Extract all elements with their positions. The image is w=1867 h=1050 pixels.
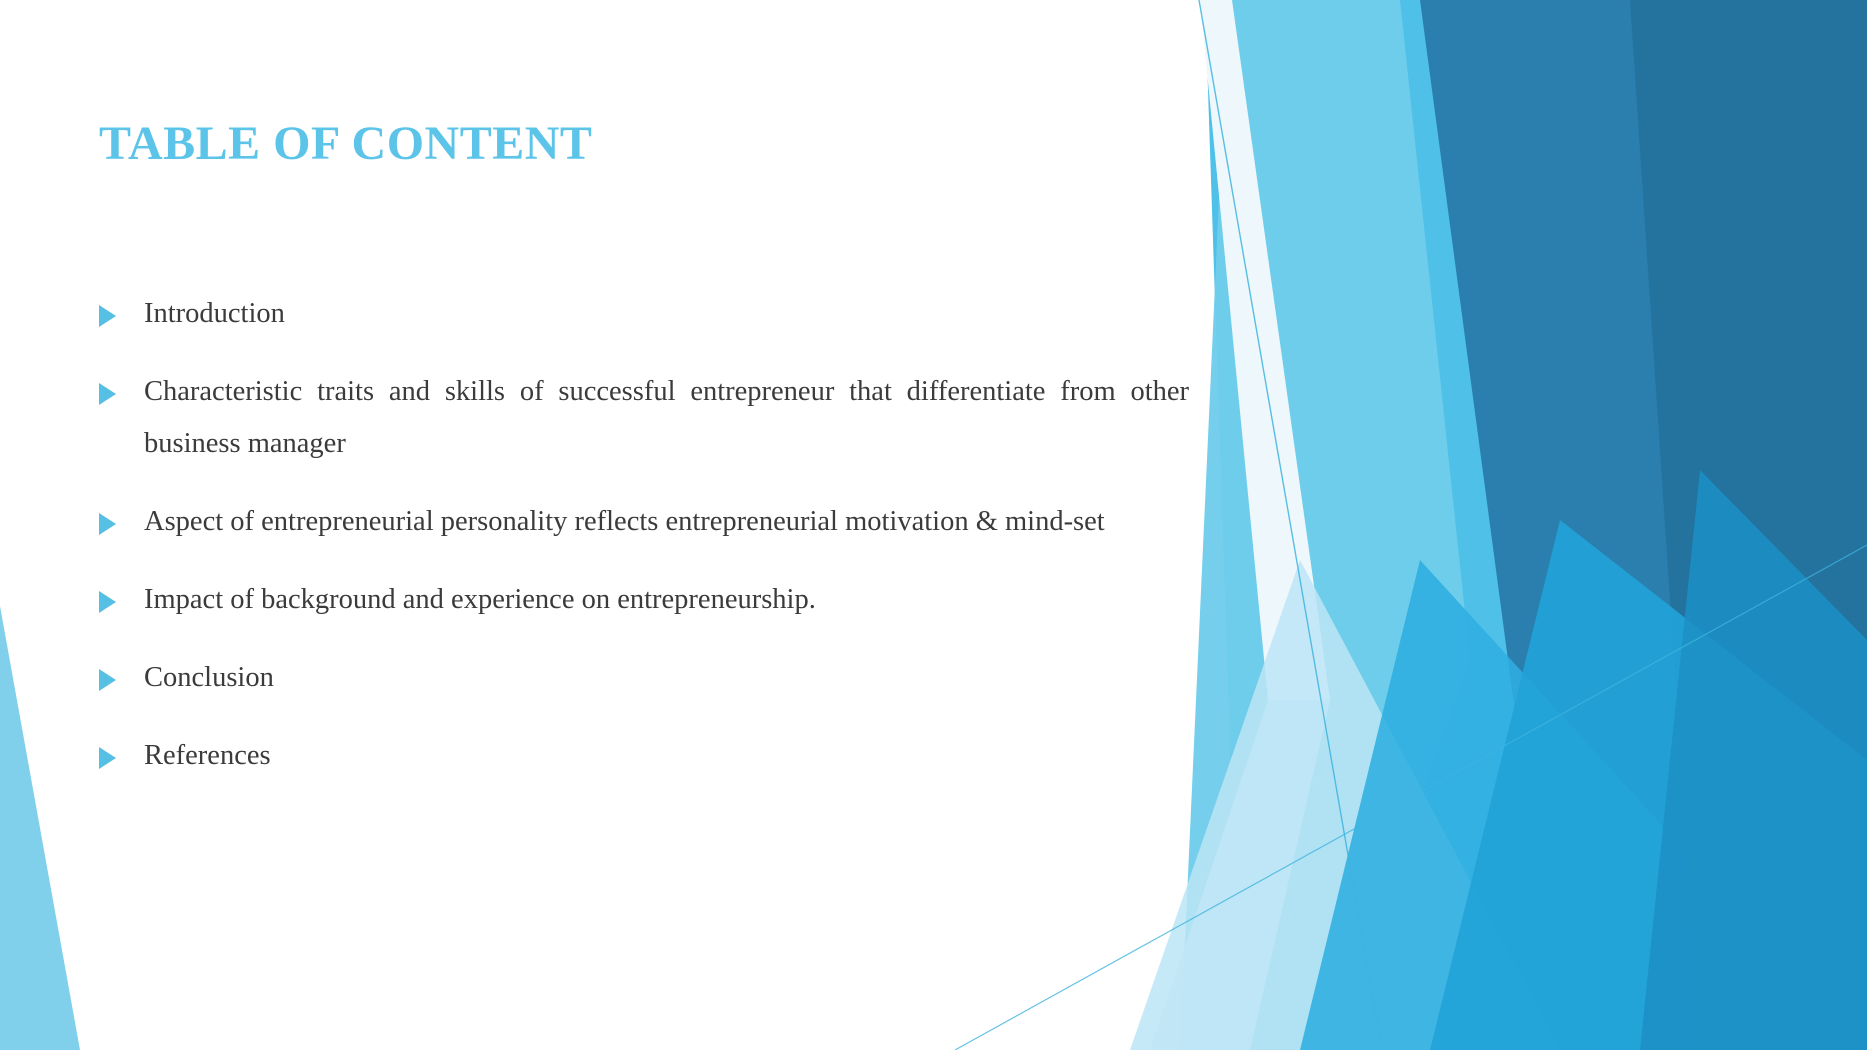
triangle-right-icon	[99, 669, 116, 691]
triangle-right-icon	[99, 305, 116, 327]
ribbon-lower-sweep-mid	[1300, 560, 1867, 1050]
ribbon-bright-blue-main	[1205, 0, 1560, 1050]
list-item[interactable]: References	[99, 730, 1189, 782]
ribbon-pale-sliver	[1200, 0, 1330, 700]
triangle-right-icon	[99, 591, 116, 613]
list-item[interactable]: Conclusion	[99, 652, 1189, 704]
presentation-slide: TABLE OF CONTENT Introduction Characteri…	[0, 0, 1867, 1050]
list-item[interactable]: Aspect of entrepreneurial personality re…	[99, 496, 1189, 548]
list-item-label: Aspect of entrepreneurial personality re…	[144, 496, 1189, 548]
ribbon-lower-sweep-pale	[1130, 560, 1560, 1050]
corner-wedge-bottom-left	[0, 606, 80, 1050]
table-of-contents-list: Introduction Characteristic traits and s…	[99, 288, 1189, 808]
ribbon-dark-overlay-top	[1640, 0, 1867, 640]
ribbon-dark-steel-right	[1620, 0, 1867, 1050]
list-item[interactable]: Introduction	[99, 288, 1189, 340]
hairline-diagonal-steep	[1199, 0, 1382, 1050]
triangle-right-icon	[99, 383, 116, 405]
ribbon-lower-sweep-deep	[1640, 470, 1867, 1050]
page-title: TABLE OF CONTENT	[99, 116, 592, 171]
list-item-label: Conclusion	[144, 652, 1189, 704]
triangle-right-icon	[99, 747, 116, 769]
list-item[interactable]: Impact of background and experience on e…	[99, 574, 1189, 626]
list-item-label: Characteristic traits and skills of succ…	[144, 366, 1189, 470]
list-item-label: Introduction	[144, 288, 1189, 340]
list-item[interactable]: Characteristic traits and skills of succ…	[99, 366, 1189, 470]
triangle-right-icon	[99, 513, 116, 535]
list-item-label: References	[144, 730, 1189, 782]
list-item-label: Impact of background and experience on e…	[144, 574, 1189, 626]
ribbon-lower-sweep-strong	[1430, 520, 1867, 1050]
ribbon-sky-blue	[1180, 0, 1470, 1050]
ribbon-steel-blue	[1408, 0, 1700, 1050]
